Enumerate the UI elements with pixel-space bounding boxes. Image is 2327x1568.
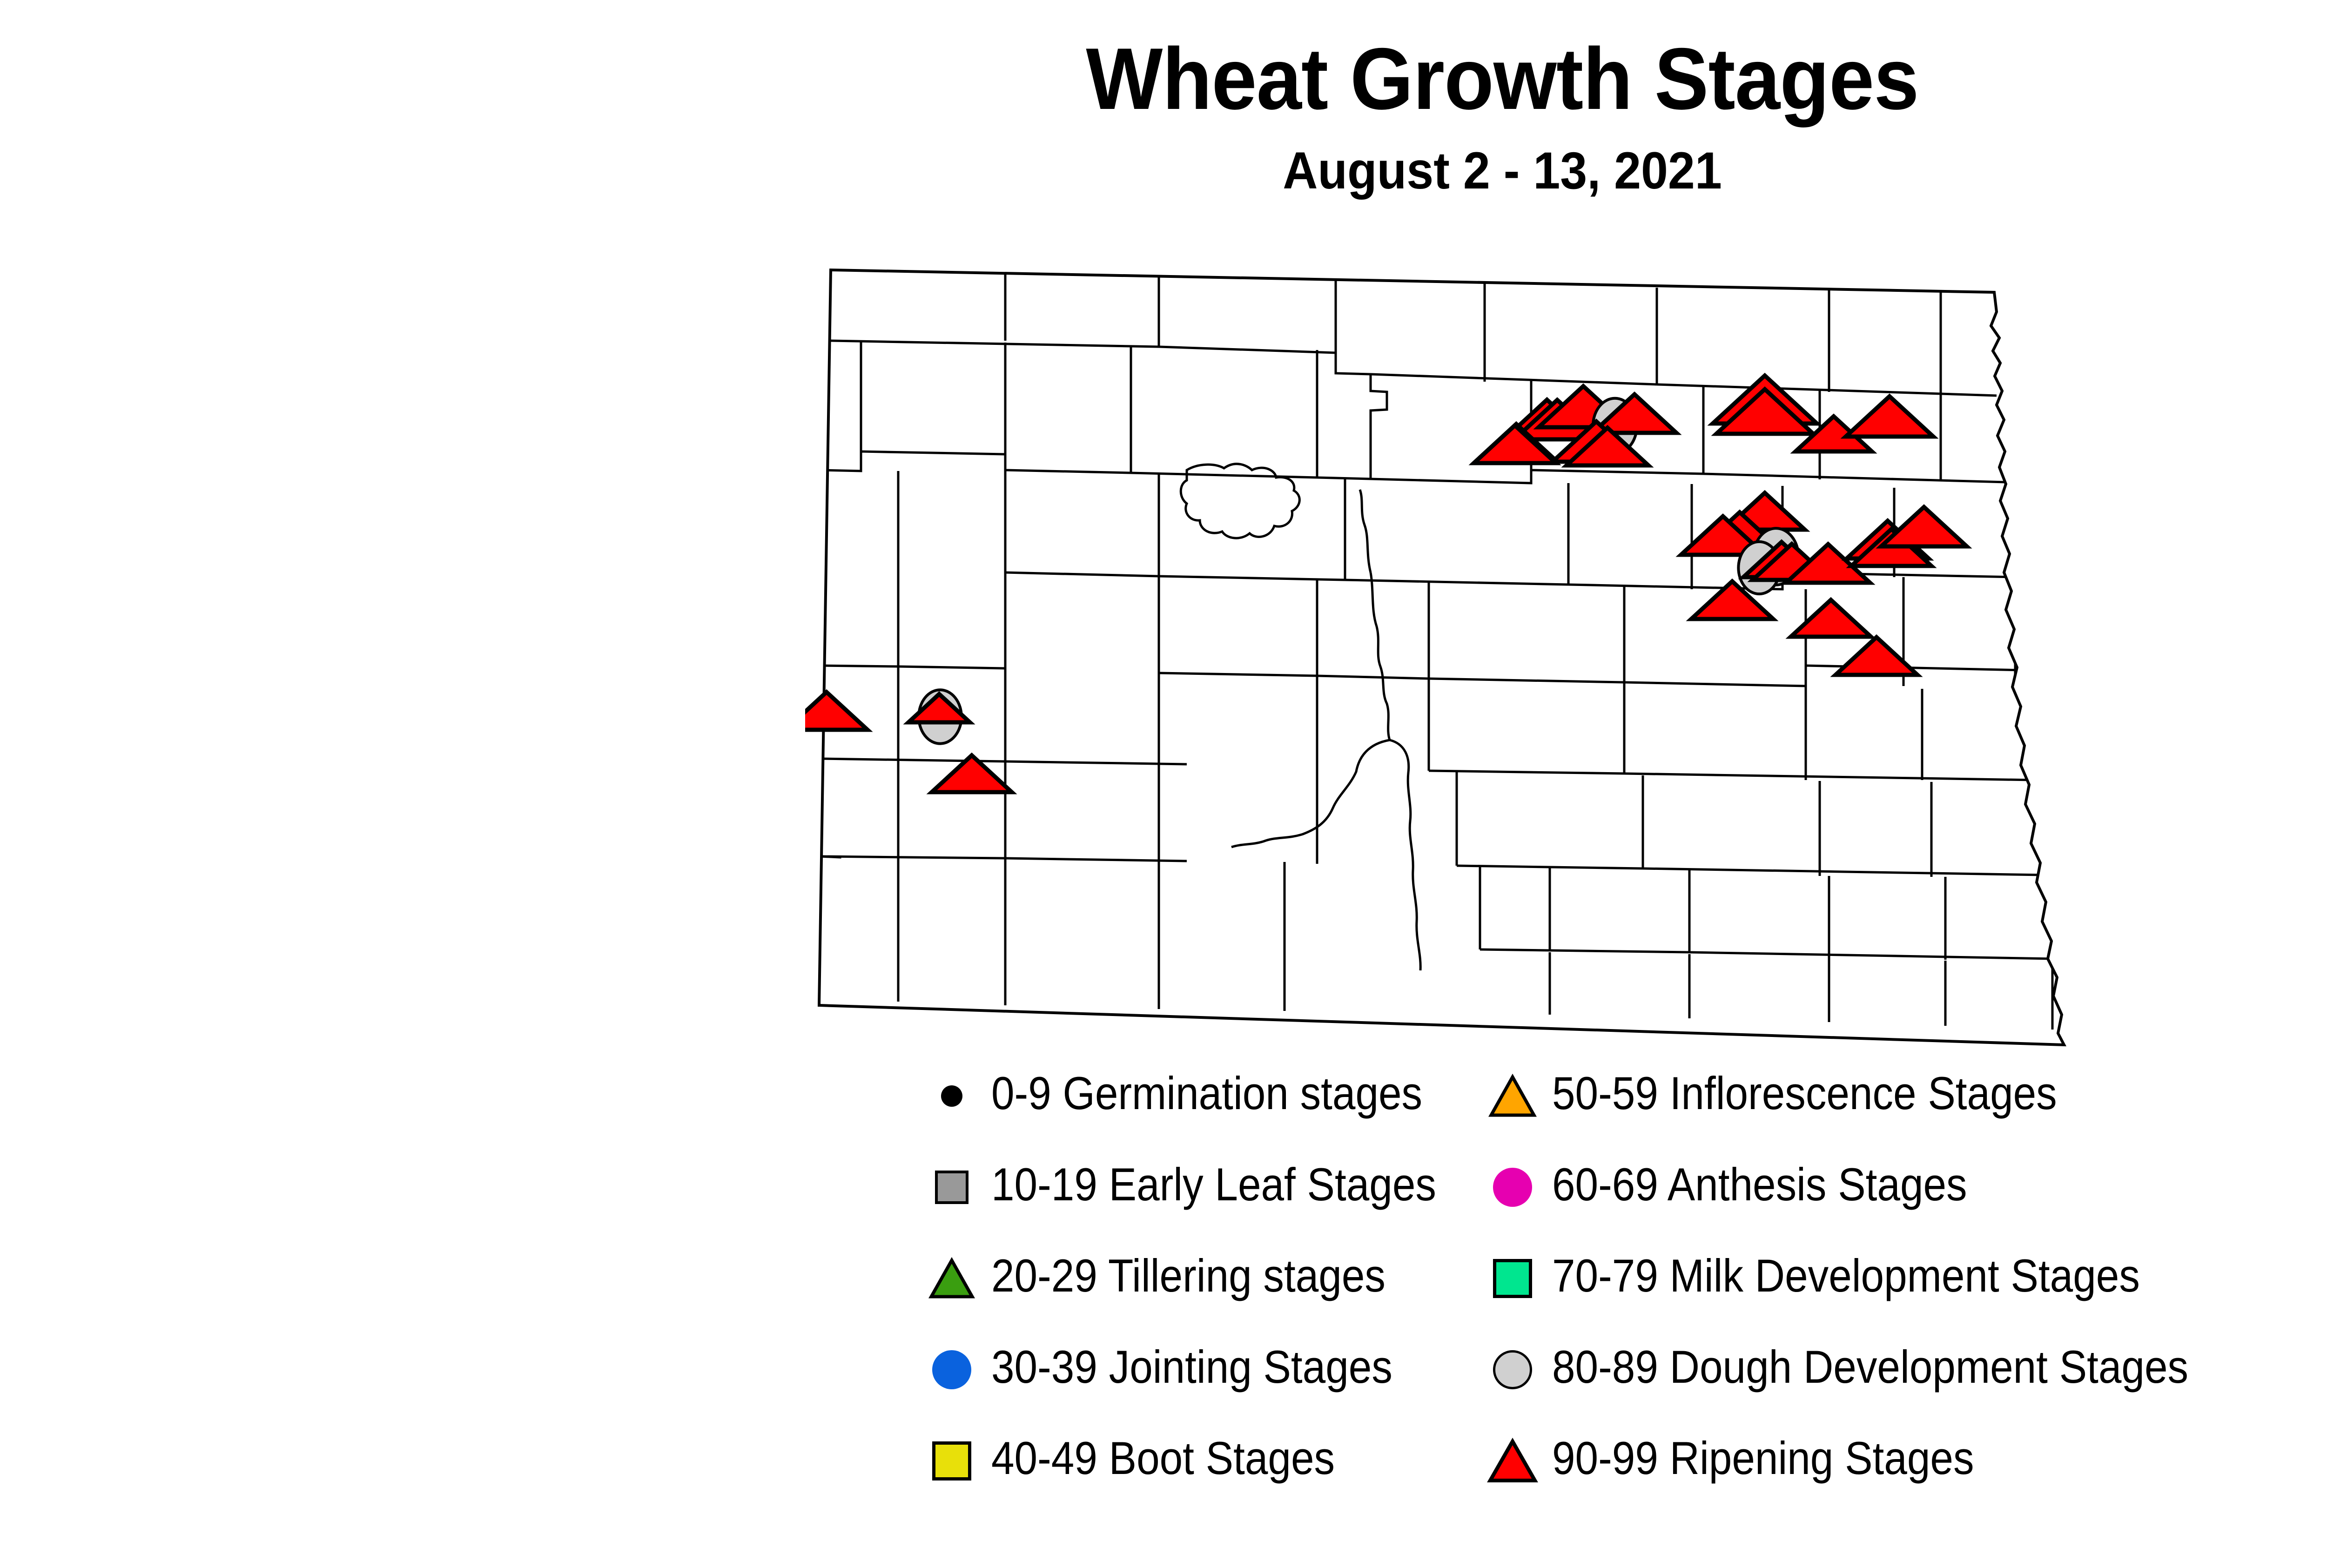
legend-label-jointing: 30-39 Jointing Stages xyxy=(991,1341,1392,1393)
page-title: Wheat Growth Stages xyxy=(105,35,2327,122)
title-block: Wheat Growth Stages August 2 - 13, 2021 xyxy=(0,35,2327,197)
north-dakota-county-map[interactable] xyxy=(805,251,2155,1057)
legend-label-milk: 70-79 Milk Development Stages xyxy=(1552,1250,2140,1301)
legend-item-inflorescence[interactable]: 50-59 Inflorescence Stages xyxy=(1487,1070,2325,1162)
legend-item-early-leaf[interactable]: 10-19 Early Leaf Stages xyxy=(926,1162,1485,1253)
yellow-square-icon xyxy=(926,1435,977,1487)
blue-circle-icon xyxy=(926,1344,977,1395)
legend-label-boot: 40-49 Boot Stages xyxy=(991,1433,1335,1484)
legend-label-dough: 80-89 Dough Development Stages xyxy=(1552,1341,2188,1393)
legend-label-early-leaf: 10-19 Early Leaf Stages xyxy=(991,1159,1436,1210)
black-dot-icon xyxy=(926,1070,977,1122)
date-range-subtitle: August 2 - 13, 2021 xyxy=(105,145,2327,197)
legend-item-jointing[interactable]: 30-39 Jointing Stages xyxy=(926,1344,1485,1435)
legend-item-tillering[interactable]: 20-29 Tillering stages xyxy=(926,1253,1485,1344)
legend-item-ripening[interactable]: 90-99 Ripening Stages xyxy=(1487,1435,2325,1527)
legend-item-anthesis[interactable]: 60-69 Anthesis Stages xyxy=(1487,1162,2325,1253)
legend-item-germination[interactable]: 0-9 Germination stages xyxy=(926,1070,1485,1162)
legend-label-germination: 0-9 Germination stages xyxy=(991,1068,1422,1119)
legend: 0-9 Germination stages 10-19 Early Leaf … xyxy=(0,1070,2327,1536)
legend-label-inflorescence: 50-59 Inflorescence Stages xyxy=(1552,1068,2057,1119)
gray-circle-icon xyxy=(1487,1344,1538,1395)
figure-canvas: Wheat Growth Stages August 2 - 13, 2021 xyxy=(0,0,2327,1568)
legend-item-dough[interactable]: 80-89 Dough Development Stages xyxy=(1487,1344,2325,1435)
legend-label-ripening: 90-99 Ripening Stages xyxy=(1552,1433,1974,1484)
magenta-circle-icon xyxy=(1487,1162,1538,1213)
red-triangle-icon xyxy=(1487,1435,1538,1487)
legend-label-anthesis: 60-69 Anthesis Stages xyxy=(1552,1159,1967,1210)
legend-item-milk[interactable]: 70-79 Milk Development Stages xyxy=(1487,1253,2325,1344)
legend-item-boot[interactable]: 40-49 Boot Stages xyxy=(926,1435,1485,1527)
gray-square-icon xyxy=(926,1162,977,1213)
green-square-icon xyxy=(1487,1253,1538,1304)
legend-label-tillering: 20-29 Tillering stages xyxy=(991,1250,1385,1301)
orange-triangle-icon xyxy=(1487,1070,1538,1122)
green-triangle-icon xyxy=(926,1253,977,1304)
